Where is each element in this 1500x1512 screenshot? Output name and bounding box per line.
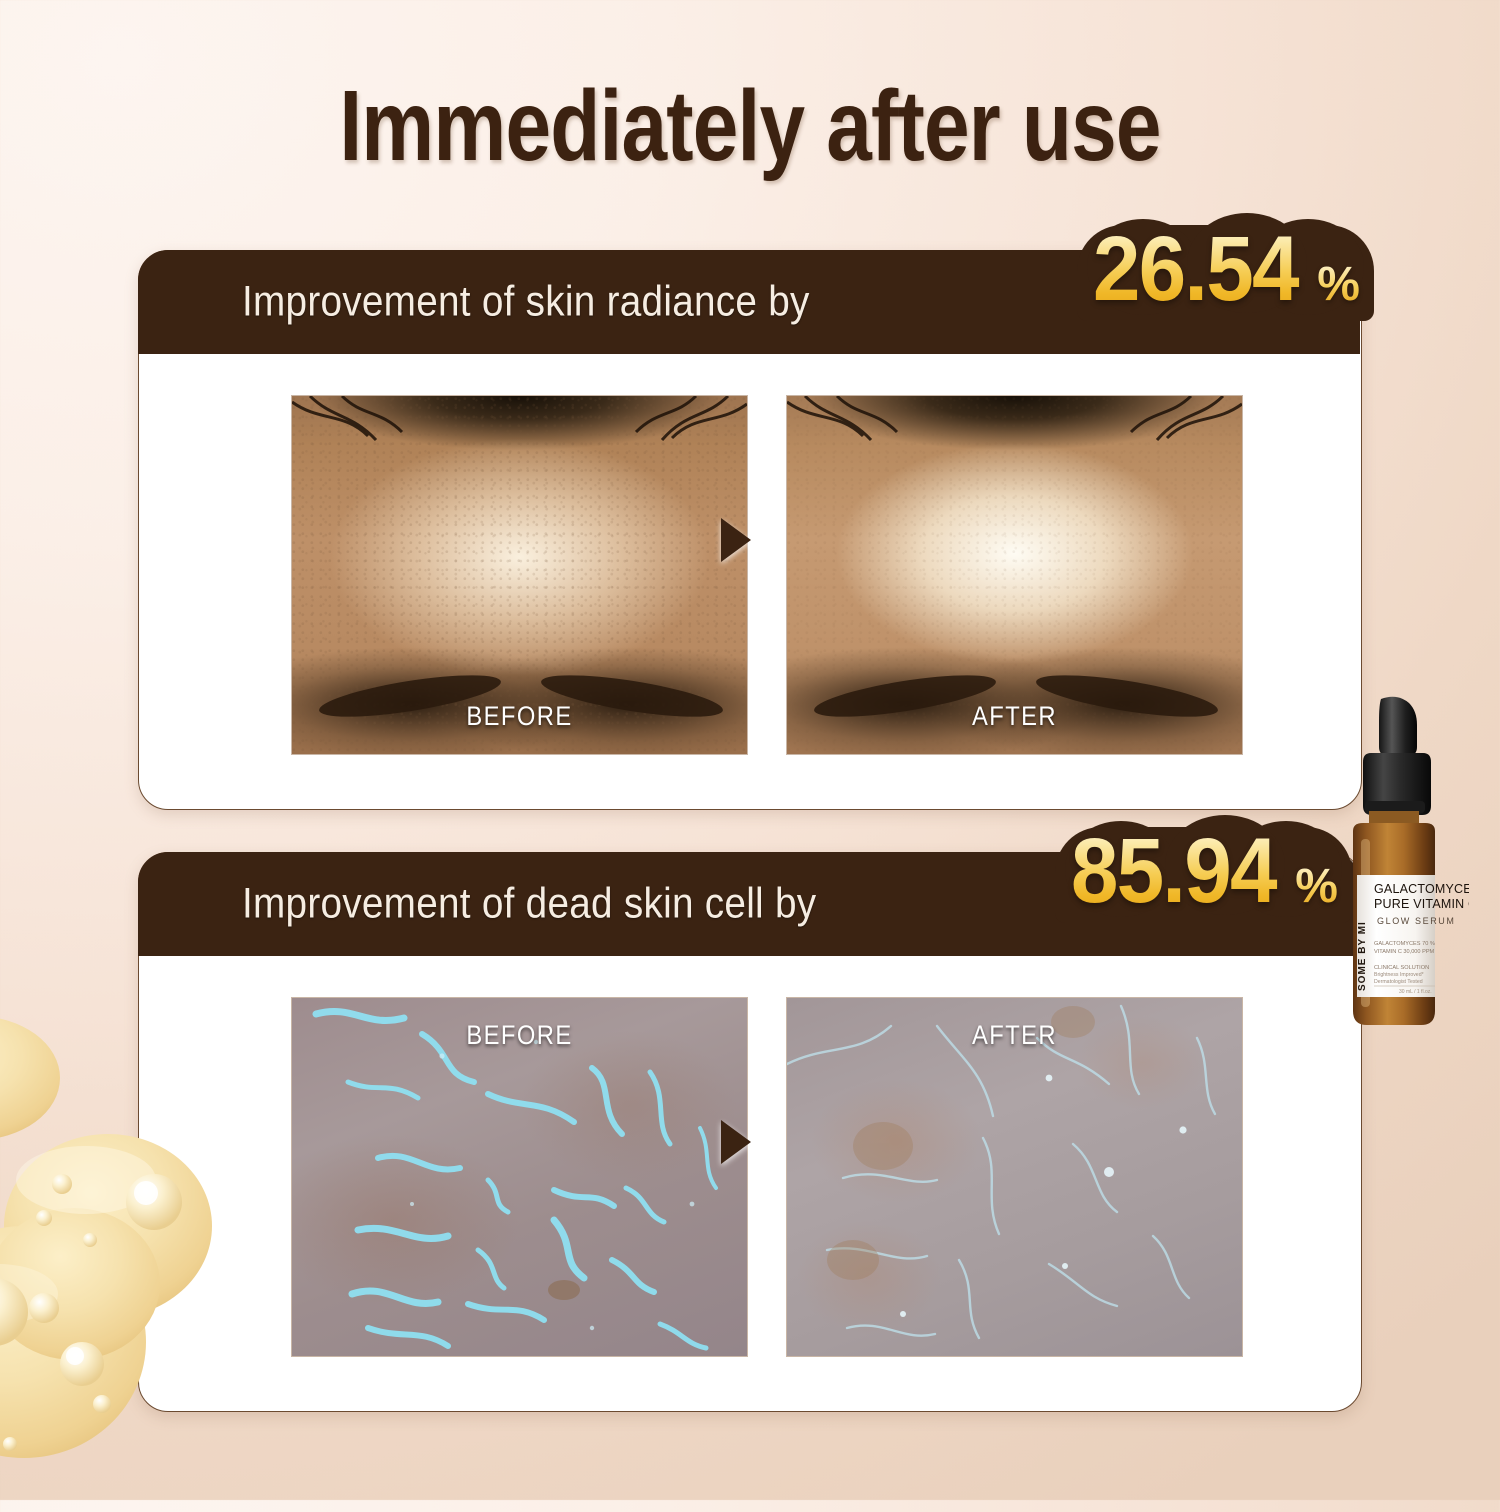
result-card-dead-skin-cell: Improvement of dead skin cell by 85.94 % bbox=[138, 852, 1362, 1412]
play-triangle-icon bbox=[721, 1120, 751, 1164]
svg-text:SOME BY MI: SOME BY MI bbox=[1357, 921, 1368, 991]
poster-stage: Immediately after use Improvement of ski… bbox=[0, 0, 1500, 1500]
after-photo-radiance: AFTER bbox=[786, 395, 1243, 755]
dead-skin-flakes-after bbox=[787, 998, 1242, 1356]
after-label: AFTER bbox=[814, 701, 1214, 732]
stat-unit: % bbox=[1317, 261, 1360, 309]
card-body: BEFORE bbox=[139, 957, 1361, 1409]
svg-text:GALACTOMYCES 70 %: GALACTOMYCES 70 % bbox=[1374, 941, 1435, 947]
stat-bubble: 85.94 % bbox=[1069, 825, 1338, 917]
stat-value: 26.54 bbox=[1091, 223, 1300, 315]
svg-text:CLINICAL SOLUTION: CLINICAL SOLUTION bbox=[1374, 965, 1429, 971]
stat-bubble: 26.54 % bbox=[1091, 223, 1360, 315]
card-header-label: Improvement of skin radiance by bbox=[242, 277, 810, 326]
svg-text:30 mL / 1 fl.oz.: 30 mL / 1 fl.oz. bbox=[1399, 989, 1432, 995]
product-bottle-image: SOME BY MI GALACTOMYCES PURE VITAMIN C G… bbox=[1317, 693, 1469, 1043]
result-card-skin-radiance: Improvement of skin radiance by 26.54 % bbox=[138, 250, 1362, 810]
after-photo-dead-skin: AFTER bbox=[786, 997, 1243, 1357]
svg-text:Dermatologist Tested: Dermatologist Tested bbox=[1374, 979, 1423, 985]
card-body: BEFORE AFT bbox=[139, 355, 1361, 807]
before-label: BEFORE bbox=[319, 1020, 719, 1051]
stat-value: 85.94 bbox=[1069, 825, 1278, 917]
play-triangle-icon bbox=[721, 518, 751, 562]
card-header-text: Improvement of skin radiance by bbox=[242, 277, 873, 326]
card-header-label: Improvement of dead skin cell by bbox=[242, 879, 816, 928]
svg-text:GALACTOMYCES: GALACTOMYCES bbox=[1374, 882, 1469, 896]
before-photo-dead-skin: BEFORE bbox=[291, 997, 748, 1357]
dead-skin-flakes-before bbox=[292, 998, 747, 1356]
after-label: AFTER bbox=[814, 1020, 1214, 1051]
svg-text:PURE VITAMIN C: PURE VITAMIN C bbox=[1374, 897, 1469, 911]
page-title: Immediately after use bbox=[135, 76, 1365, 176]
before-photo-radiance: BEFORE bbox=[291, 395, 748, 755]
before-label: BEFORE bbox=[319, 701, 719, 732]
svg-text:GLOW SERUM: GLOW SERUM bbox=[1377, 916, 1456, 926]
svg-text:VITAMIN C 30,000 PPM: VITAMIN C 30,000 PPM bbox=[1374, 949, 1435, 955]
svg-text:Brightness Improved*: Brightness Improved* bbox=[1374, 972, 1424, 978]
card-header-text: Improvement of dead skin cell by bbox=[242, 879, 880, 928]
